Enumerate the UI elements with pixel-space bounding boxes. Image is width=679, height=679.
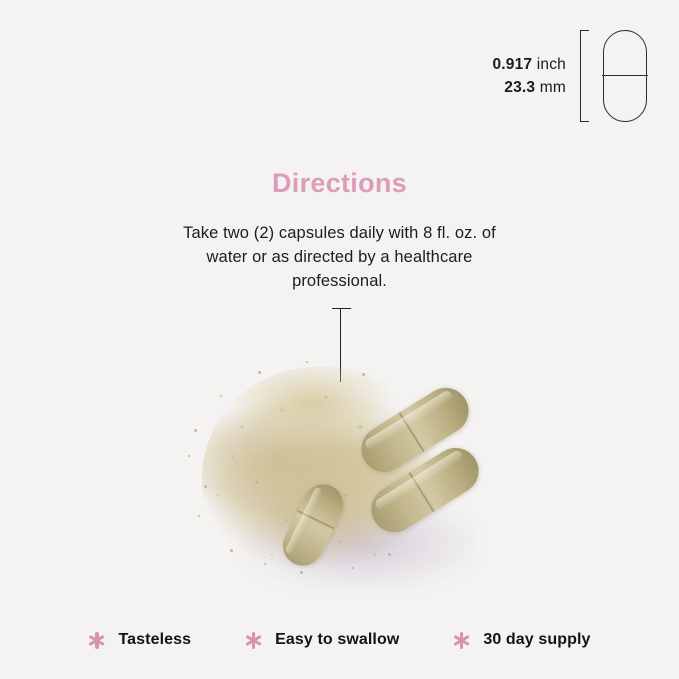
- asterisk-flower-icon: [453, 632, 470, 649]
- powder-speck: [306, 361, 308, 363]
- measurement-inch-unit: inch: [537, 56, 566, 73]
- measurement-mm-unit: mm: [540, 79, 566, 96]
- feature-list: Tasteless Easy to swallow 30 day supply: [0, 631, 679, 649]
- powder-speck: [300, 571, 303, 574]
- powder-speck: [230, 549, 233, 552]
- feature-label: Easy to swallow: [275, 631, 399, 649]
- powder-speck: [264, 563, 266, 565]
- feature-label: 30 day supply: [483, 631, 590, 649]
- powder-speck: [220, 395, 222, 397]
- feature-item-tasteless: Tasteless: [89, 631, 192, 649]
- measurement-labels: 0.917 inch 23.3 mm: [492, 57, 566, 96]
- asterisk-flower-icon: [245, 632, 262, 649]
- feature-item-easy-to-swallow: Easy to swallow: [245, 631, 399, 649]
- measurement-mm-value: 23.3: [504, 79, 535, 96]
- powder-speck: [198, 515, 200, 517]
- powder-speck: [388, 553, 391, 556]
- capsule-join-line: [602, 75, 647, 76]
- asterisk-flower-icon: [89, 632, 106, 649]
- powder-speck: [258, 371, 261, 374]
- capsule-size-callout: 0.917 inch 23.3 mm: [492, 30, 647, 122]
- powder-speck: [194, 429, 197, 432]
- measurement-inch-value: 0.917: [492, 56, 532, 73]
- powder-speck: [204, 485, 207, 488]
- feature-label: Tasteless: [119, 631, 192, 649]
- feature-item-30-day-supply: 30 day supply: [453, 631, 590, 649]
- powder-speck: [352, 567, 354, 569]
- directions-heading: Directions: [0, 168, 679, 199]
- directions-body-text: Take two (2) capsules daily with 8 fl. o…: [164, 222, 516, 294]
- measurement-mm: 23.3 mm: [504, 80, 566, 96]
- measurement-inch: 0.917 inch: [492, 57, 566, 73]
- powder-speck: [362, 373, 365, 376]
- herbal-powder-and-capsules-photo: [150, 355, 550, 600]
- capsule-outline-icon: [603, 30, 647, 122]
- measurement-bracket-icon: [580, 30, 589, 122]
- powder-speck: [188, 455, 190, 457]
